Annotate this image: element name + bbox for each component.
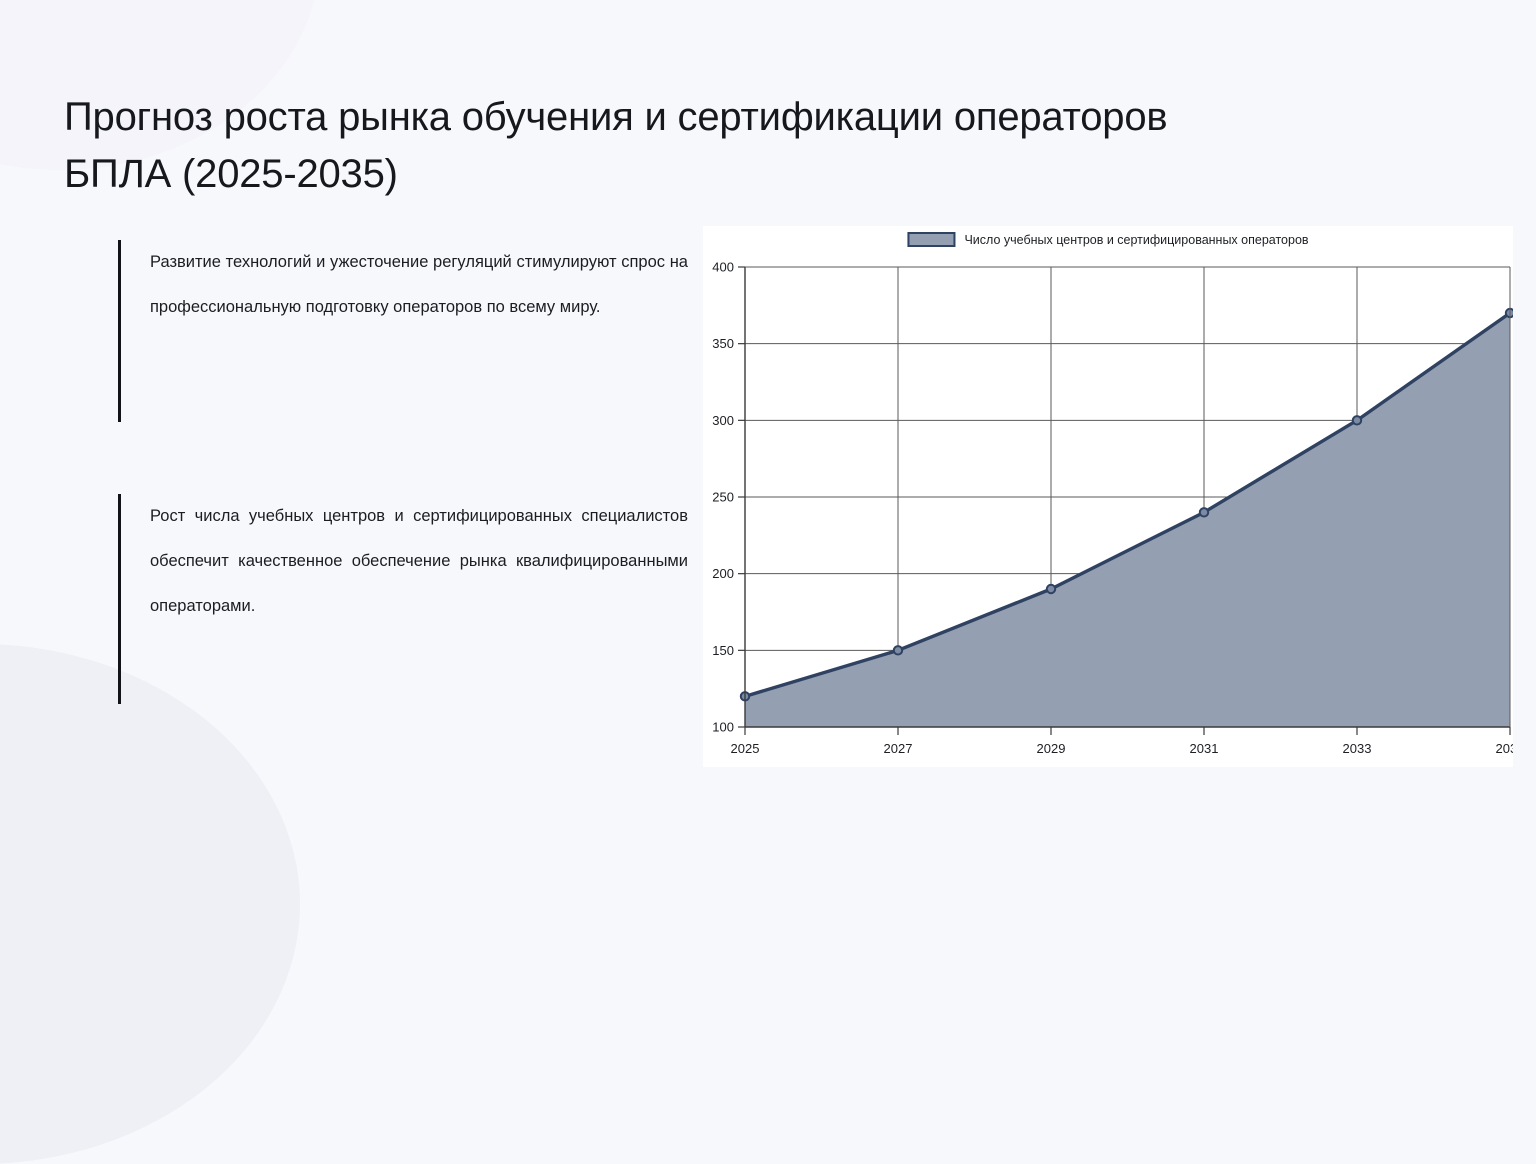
chart-card: Число учебных центров и сертифицированны… bbox=[703, 226, 1513, 767]
x-axis-tick-label: 2027 bbox=[884, 741, 913, 756]
x-axis-tick-label: 2033 bbox=[1343, 741, 1372, 756]
y-axis-tick-label: 150 bbox=[712, 643, 734, 658]
note-block-2: Рост числа учебных центров и сертифициро… bbox=[118, 494, 688, 704]
y-axis-tick-label: 300 bbox=[712, 413, 734, 428]
x-axis-tick-label: 2025 bbox=[731, 741, 760, 756]
x-axis-tick-label: 2029 bbox=[1037, 741, 1066, 756]
page-title: Прогноз роста рынка обучения и сертифика… bbox=[64, 89, 1214, 203]
data-point-marker bbox=[894, 646, 902, 654]
data-point-marker bbox=[1353, 416, 1361, 424]
note-block-1: Развитие технологий и ужесточение регуля… bbox=[118, 240, 688, 422]
y-axis-tick-label: 100 bbox=[712, 720, 734, 735]
area-fill bbox=[745, 313, 1510, 727]
note-text-2: Рост числа учебных центров и сертифициро… bbox=[150, 494, 688, 629]
x-axis-tick-label: 2035 bbox=[1496, 741, 1513, 756]
background-decoration-bottom-left bbox=[0, 644, 300, 1164]
y-axis-tick-label: 250 bbox=[712, 490, 734, 505]
data-point-marker bbox=[1047, 585, 1055, 593]
x-axis-tick-label: 2031 bbox=[1190, 741, 1219, 756]
notes-column: Развитие технологий и ужесточение регуля… bbox=[118, 240, 688, 704]
note-text-1: Развитие технологий и ужесточение регуля… bbox=[150, 240, 688, 330]
data-point-marker bbox=[1200, 508, 1208, 516]
area-chart: 1001502002503003504002025202720292031203… bbox=[703, 226, 1513, 767]
accent-bar-1 bbox=[118, 240, 121, 422]
chart-plot-area: 1001502002503003504002025202720292031203… bbox=[703, 226, 1513, 767]
accent-bar-2 bbox=[118, 494, 121, 704]
y-axis-tick-label: 200 bbox=[712, 566, 734, 581]
data-point-marker bbox=[1506, 309, 1513, 317]
y-axis-tick-label: 350 bbox=[712, 336, 734, 351]
y-axis-tick-label: 400 bbox=[712, 260, 734, 275]
